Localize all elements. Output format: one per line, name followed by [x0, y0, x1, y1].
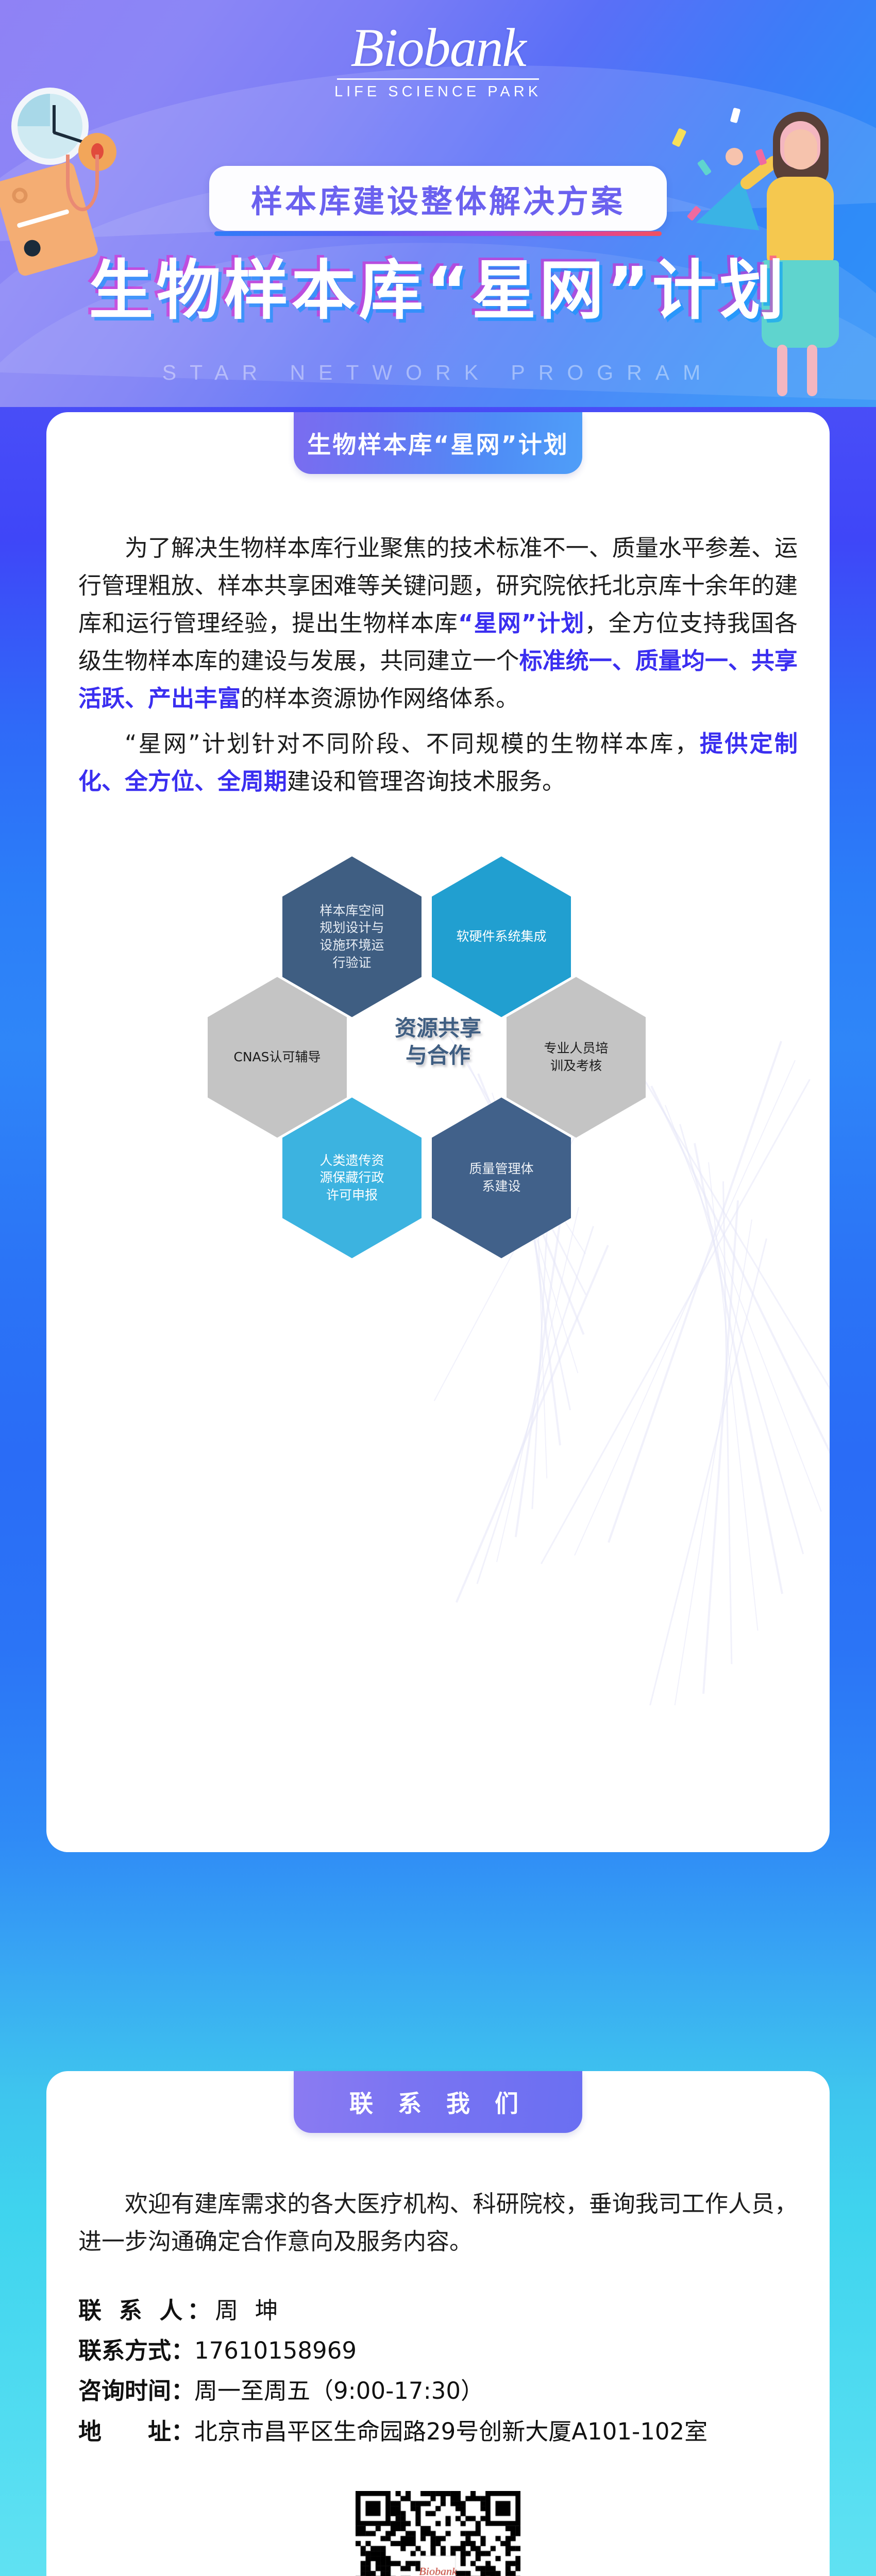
plan-card: 生物样本库“星网”计划 为了解决生物样本库行业聚焦的技术标准不一、质量水平参差、…	[46, 412, 830, 1852]
contact-row: 咨询时间：周一至周五（9:00-17:30）	[78, 2371, 798, 2411]
hexagon-quality-management-label: 质量管理体系建设	[460, 1160, 543, 1195]
p1-sep-2: 、	[728, 647, 751, 674]
contact-card: 联 系 我 们 欢迎有建库需求的各大医疗机构、科研院校，垂询我司工作人员，进一步…	[46, 2071, 830, 2576]
contact-label-hours: 咨询时间：	[78, 2377, 194, 2404]
banner-subtitle-pill: 样本库建设整体解决方案	[209, 166, 667, 231]
p1-sep-1: 、	[612, 647, 635, 674]
dna-strand-line	[456, 1245, 609, 1603]
p1-part3: 的样本资源协作网络体系。	[241, 685, 519, 712]
qr-code[interactable]	[356, 2491, 520, 2576]
p2-part1: “星网”计划针对不同阶段、不同规模的生物样本库，	[125, 730, 700, 757]
contact-row: 联 系 人：周 坤	[78, 2291, 798, 2331]
service-hexagon-diagram: 样本库空间规划设计与设施环境运行验证 软硬件系统集成 专业人员培训及考核 质量管…	[77, 825, 799, 1289]
hexagon-cnas-accreditation-label: CNAS认可辅导	[224, 1048, 330, 1066]
p1-highlight-1: “星网”计划	[458, 609, 585, 637]
banner-program-text: STAR NETWORK PROGRAM	[0, 361, 876, 385]
contact-intro: 欢迎有建库需求的各大医疗机构、科研院校，垂询我司工作人员，进一步沟通确定合作意向…	[46, 2185, 830, 2261]
contact-card-tab-label: 联 系 我 们	[349, 2085, 527, 2119]
p1-highlight-5: 产出丰富	[148, 685, 241, 712]
contact-label-person: 联 系 人：	[78, 2297, 215, 2324]
contact-details: 联 系 人：周 坤 联系方式：17610158969 咨询时间：周一至周五（9:…	[46, 2261, 830, 2452]
hero-banner: Biobank LIFE SCIENCE PARK 样本库建设整体解决方案 生物…	[0, 0, 876, 407]
banner-subtitle-text: 样本库建设整体解决方案	[251, 176, 625, 222]
contact-value-phone: 17610158969	[194, 2337, 357, 2364]
qr-section: 关注公众号了解更多	[46, 2452, 830, 2576]
contact-value-address: 北京市昌平区生命园路29号创新大厦A101-102室	[194, 2418, 707, 2445]
logo-wordmark: Biobank	[0, 21, 876, 75]
contact-value-person: 周 坤	[215, 2297, 282, 2324]
brand-logo: Biobank LIFE SCIENCE PARK	[0, 21, 876, 100]
hexagon-genetic-resource-permit-label: 人类遗传资源保藏行政许可申报	[310, 1152, 393, 1204]
plan-paragraph-2: “星网”计划针对不同阶段、不同规模的生物样本库，提供定制化、全方位、全周期建设和…	[46, 725, 830, 801]
p1-sep-3: 、	[125, 685, 148, 712]
logo-tagline: LIFE SCIENCE PARK	[0, 83, 876, 100]
dna-strand-line	[672, 1219, 752, 1705]
banner-main-title: 生物样本库“星网”计划	[0, 255, 876, 327]
contact-row: 联系方式：17610158969	[78, 2331, 798, 2371]
dna-strand-line	[641, 1239, 767, 1705]
hexagon-center-label: 资源共享与合作	[395, 1015, 481, 1069]
banner-pill-underline	[214, 231, 662, 236]
person-illustration	[706, 100, 861, 389]
tag-string-icon	[66, 155, 99, 211]
hexagon-staff-training-label: 专业人员培训及考核	[534, 1040, 617, 1075]
p1-highlight-2: 标准统一	[519, 647, 612, 674]
p2-part2: 建设和管理咨询技术服务。	[287, 768, 565, 795]
contact-label-phone: 联系方式：	[78, 2337, 194, 2364]
contact-row: 地 址：北京市昌平区生命园路29号创新大厦A101-102室	[78, 2412, 798, 2452]
hexagon-space-planning-label: 样本库空间规划设计与设施环境运行验证	[310, 902, 393, 972]
contact-value-hours: 周一至周五（9:00-17:30）	[194, 2377, 484, 2404]
plan-paragraph-1: 为了解决生物样本库行业聚焦的技术标准不一、质量水平参差、运行管理粗放、样本共享困…	[46, 530, 830, 717]
p1-highlight-3: 质量均一	[635, 647, 728, 674]
hexagon-system-integration-label: 软硬件系统集成	[447, 928, 555, 945]
contact-label-address: 地 址：	[78, 2418, 194, 2445]
logo-divider	[337, 78, 539, 80]
contact-card-tab: 联 系 我 们	[294, 2071, 582, 2133]
